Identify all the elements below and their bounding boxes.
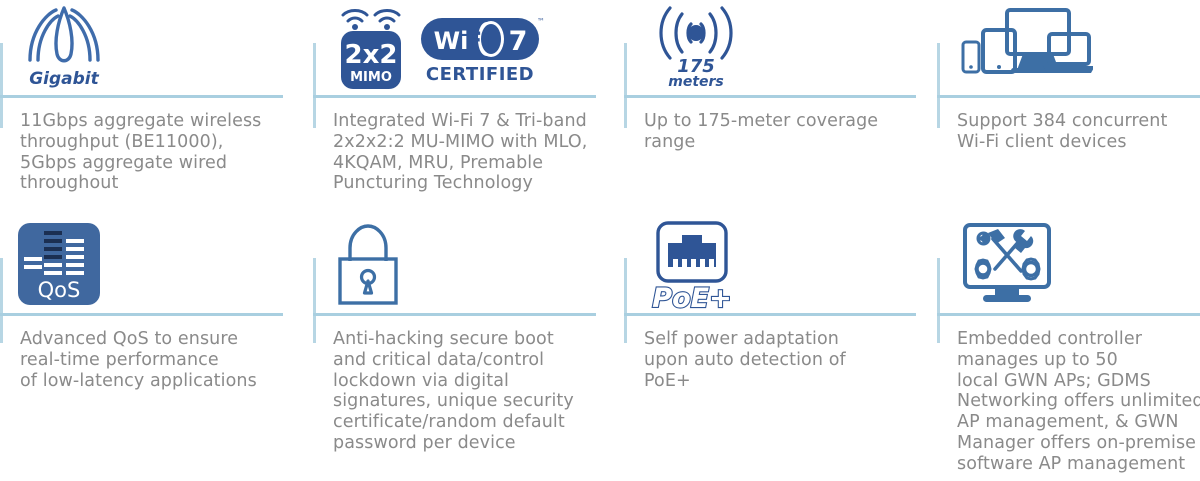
padlock-icon (335, 221, 401, 307)
feature-cell-gigabit-throughput: Gigabit 11Gbps aggregate wireless throug… (0, 0, 300, 215)
horizontal-divider (937, 95, 1200, 98)
feature-description: Self power adaptation upon auto detectio… (644, 329, 929, 391)
vertical-accent-rule (0, 43, 3, 128)
vertical-accent-rule (624, 43, 627, 128)
mimo-2x2-icon: 2x2 MIMO (333, 1, 409, 91)
badge-seven-label: 7 (509, 26, 528, 57)
horizontal-divider (937, 313, 1200, 316)
feature-description: Advanced QoS to ensure real-time perform… (20, 329, 298, 391)
feature-grid: Gigabit 11Gbps aggregate wireless throug… (0, 0, 1200, 481)
feature-cell-poe-plus: PoE+ Self power adaptation upon auto det… (624, 215, 924, 481)
horizontal-divider (624, 95, 916, 98)
vertical-accent-rule (624, 258, 627, 343)
icon-area: QoS (18, 223, 100, 321)
feature-description: Up to 175-meter coverage range (644, 111, 929, 153)
mimo-secondary-label: MIMO (350, 70, 392, 85)
feature-cell-wifi7-mimo: 2x2 MIMO Wi Fi 7 ™ CERTIFIED Integrated … (313, 0, 613, 215)
feature-cell-advanced-qos: QoS Advanced QoS to ensure real-time per… (0, 215, 300, 481)
feature-description: 11Gbps aggregate wireless throughput (BE… (20, 111, 288, 194)
icon-area (961, 8, 1093, 103)
qos-icon-label: QoS (38, 278, 81, 302)
horizontal-divider (0, 95, 283, 98)
monitor-tools-icon (961, 221, 1053, 307)
mimo-primary-label: 2x2 (345, 40, 398, 70)
ethernet-port-icon: PoE+ (646, 219, 746, 311)
horizontal-divider (313, 313, 596, 316)
feature-cell-embedded-controller: Embedded controller manages up to 50 loc… (937, 215, 1200, 481)
qos-equalizer-icon: QoS (18, 223, 100, 305)
feature-cell-concurrent-clients: Support 384 concurrent Wi-Fi client devi… (937, 0, 1200, 215)
feature-description: Embedded controller manages up to 50 loc… (957, 329, 1200, 475)
signal-range-icon: 175 meters (646, 0, 746, 88)
vertical-accent-rule (313, 43, 316, 128)
vertical-accent-rule (313, 258, 316, 343)
badge-certified-label: CERTIFIED (426, 64, 534, 85)
gigabit-icon-label: Gigabit (29, 69, 99, 88)
vertical-accent-rule (937, 258, 940, 343)
feature-description: Integrated Wi-Fi 7 & Tri-band 2x2x2:2 MU… (333, 111, 618, 194)
horizontal-divider (0, 313, 283, 316)
vertical-accent-rule (937, 43, 940, 128)
poe-icon-label: PoE+ (652, 283, 731, 311)
feature-cell-secure-boot: Anti-hacking secure boot and critical da… (313, 215, 613, 481)
badge-wifi-label: Wi (434, 27, 469, 55)
icon-area: Gigabit (16, 0, 112, 95)
horizontal-divider (313, 95, 596, 98)
gigabit-logo-icon: Gigabit (16, 0, 112, 88)
multi-device-icon (961, 8, 1093, 78)
badge-trademark-label: ™ (537, 17, 545, 26)
horizontal-divider (624, 313, 916, 316)
badge-fi-label: Fi (466, 27, 491, 55)
wifi7-certified-badge-icon: Wi Fi 7 ™ CERTIFIED (419, 10, 547, 88)
range-secondary-label: meters (668, 74, 724, 88)
feature-description: Anti-hacking secure boot and critical da… (333, 329, 623, 454)
icon-area: PoE+ (646, 219, 746, 317)
icon-area: 175 meters (646, 0, 746, 95)
feature-description: Support 384 concurrent Wi-Fi client devi… (957, 111, 1200, 153)
icon-area (335, 221, 401, 319)
icon-area (961, 221, 1053, 319)
icon-area: 2x2 MIMO Wi Fi 7 ™ CERTIFIED (333, 0, 547, 92)
feature-cell-coverage-range: 175 meters Up to 175-meter coverage rang… (624, 0, 924, 215)
vertical-accent-rule (0, 258, 3, 343)
